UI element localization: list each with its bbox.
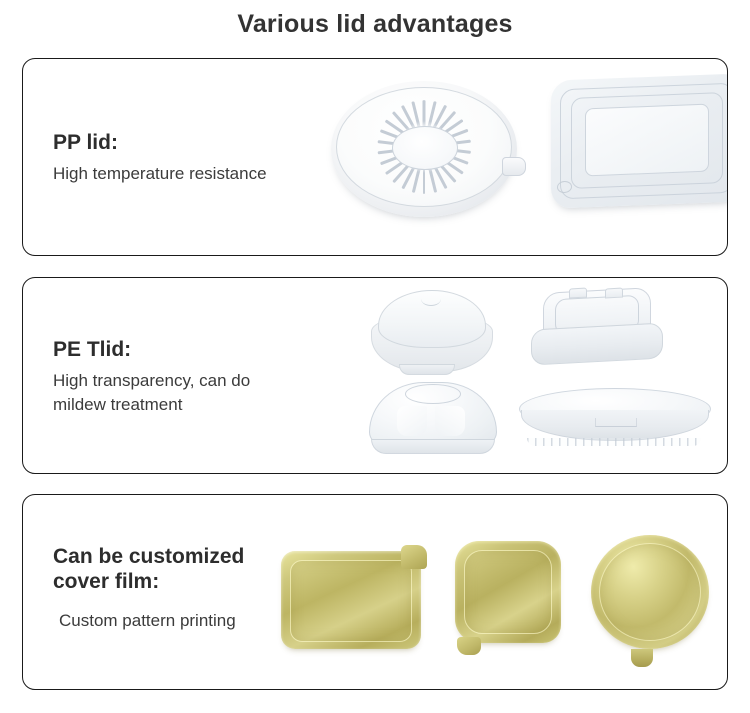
round-gold-foil-lid-emboss <box>599 543 701 641</box>
card-pe-lid-heading: PE Tlid: <box>53 338 250 363</box>
dome-pe-lid-image <box>369 382 495 458</box>
round-pp-lid-image <box>331 81 517 217</box>
round-gold-foil-lid-tab <box>631 649 653 667</box>
square-gold-foil-lid-image <box>455 541 571 657</box>
rectangular-gold-foil-lid-tab <box>401 545 427 569</box>
heart-pe-lid-image <box>371 290 491 372</box>
card-cover-film-products <box>323 495 727 689</box>
card-pp-lid-text: PP lid: High temperature resistance <box>53 131 267 186</box>
dome-pe-lid-highlight-left <box>397 406 427 436</box>
card-pe-lid-products <box>323 278 727 473</box>
page-title: Various lid advantages <box>0 10 750 39</box>
heart-pe-lid-foot <box>399 364 455 375</box>
card-pp-lid-heading: PP lid: <box>53 131 267 156</box>
round-pp-lid-rib <box>423 100 426 129</box>
square-gold-foil-lid-tab <box>457 637 481 655</box>
dome-pe-lid-top-circle <box>405 384 461 404</box>
card-cover-film-description: Custom pattern printing <box>53 601 244 634</box>
card-pe-lid-description: High transparency, can do mildew treatme… <box>53 369 250 418</box>
rectangular-pp-lid-panel <box>585 104 709 177</box>
rectangular-gold-foil-lid-emboss <box>290 560 412 642</box>
oval-flat-pe-lid-image <box>519 388 709 450</box>
rectangular-pp-lid-image <box>551 77 728 205</box>
card-cover-film: Can be customized cover film: Custom pat… <box>22 494 728 690</box>
card-pe-lid: PE Tlid: High transparency, can do milde… <box>22 277 728 474</box>
square-pe-lid-flange <box>531 323 663 366</box>
card-pp-lid-products <box>323 59 727 255</box>
heart-pe-lid-cleft <box>421 292 441 306</box>
rectangular-gold-foil-lid-image <box>281 545 427 651</box>
dome-pe-lid-skirt <box>371 439 495 454</box>
card-pe-lid-text: PE Tlid: High transparency, can do milde… <box>53 338 250 418</box>
card-cover-film-heading: Can be customized cover film: <box>53 545 244 595</box>
oval-flat-pe-lid-step <box>595 418 637 427</box>
square-gold-foil-lid-emboss <box>464 550 552 634</box>
oval-flat-pe-lid-ridges <box>527 438 701 446</box>
round-pp-lid-center <box>392 126 458 170</box>
dome-pe-lid-highlight-right <box>435 406 465 436</box>
square-pe-lid-lug-right <box>605 288 623 299</box>
card-cover-film-text: Can be customized cover film: Custom pat… <box>53 545 244 633</box>
round-gold-foil-lid-image <box>591 535 717 661</box>
card-pp-lid: PP lid: High temperature resistance <box>22 58 728 256</box>
square-pe-lid-image <box>531 290 661 368</box>
card-pp-lid-description: High temperature resistance <box>53 162 267 187</box>
round-pp-lid-tab <box>502 157 526 176</box>
square-pe-lid-lug-left <box>569 288 587 299</box>
